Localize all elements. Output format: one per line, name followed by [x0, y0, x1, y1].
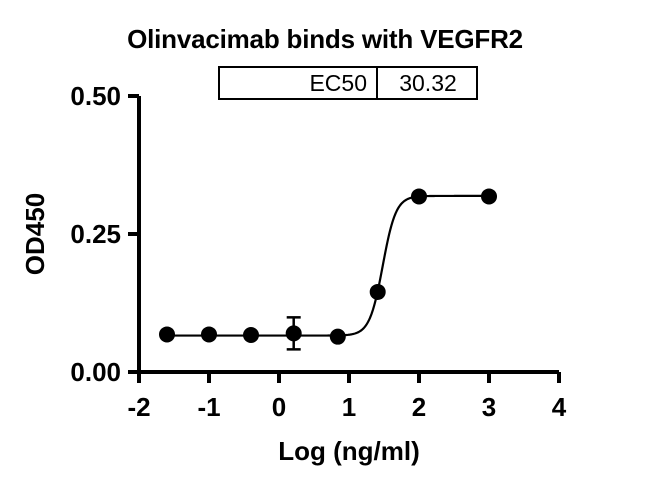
y-tick-label: 0.25	[70, 219, 121, 249]
data-point-marker	[330, 329, 346, 345]
y-tick-label: 0.00	[70, 357, 121, 387]
data-point-marker	[481, 188, 497, 204]
y-axis-tick-labels: 0.000.250.50	[70, 81, 121, 387]
data-point-marker	[159, 326, 175, 342]
plot-area: 0.000.250.50 -2-101234 Log (ng/ml) OD450	[0, 0, 650, 489]
x-axis-tick-labels: -2-101234	[127, 392, 566, 422]
x-tick-label: -1	[197, 392, 220, 422]
chart-figure: Olinvacimab binds with VEGFR2 EC50 30.32…	[0, 0, 650, 489]
data-point-marker	[286, 325, 302, 341]
data-point-marker	[370, 284, 386, 300]
data-point-marker	[411, 188, 427, 204]
data-points	[159, 188, 497, 344]
x-tick-label: 2	[412, 392, 426, 422]
x-tick-label: 4	[552, 392, 567, 422]
y-tick-label: 0.50	[70, 81, 121, 111]
x-axis-title: Log (ng/ml)	[278, 436, 420, 466]
y-axis-title: OD450	[20, 193, 50, 275]
data-point-marker	[201, 326, 217, 342]
x-tick-label: -2	[127, 392, 150, 422]
x-tick-label: 3	[482, 392, 496, 422]
fit-curve	[167, 196, 489, 336]
data-point-marker	[243, 327, 259, 343]
x-tick-label: 0	[272, 392, 286, 422]
x-tick-label: 1	[342, 392, 356, 422]
